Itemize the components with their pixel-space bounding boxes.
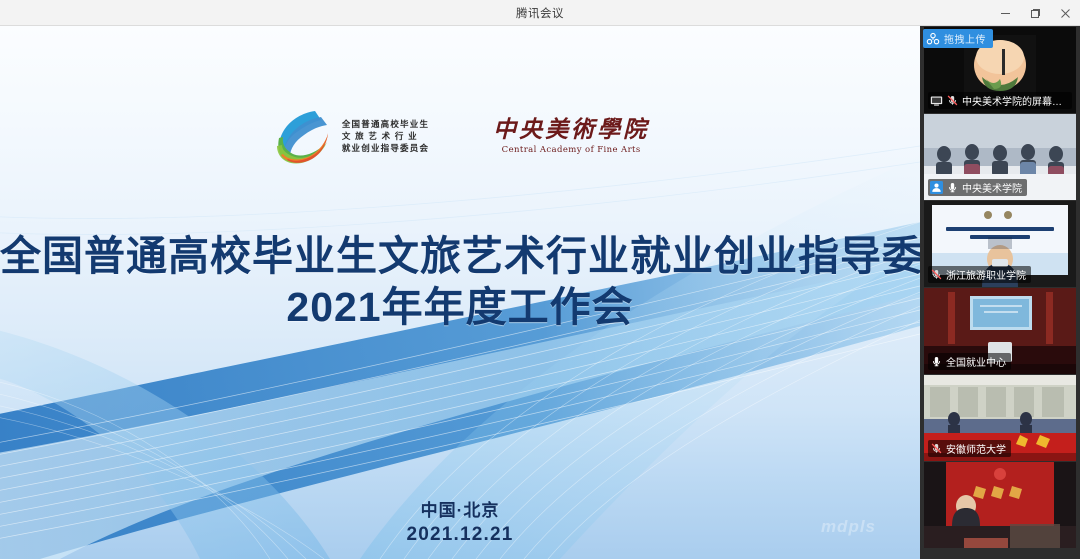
cafa-logo-cn: 中央美術學院 xyxy=(493,117,649,142)
filmstrip-tile[interactable]: 安徽师范大学 xyxy=(924,375,1076,461)
mic-muted-icon xyxy=(930,442,943,455)
person-icon xyxy=(930,181,943,194)
screen-share-icon xyxy=(930,94,943,107)
shared-screen-stage[interactable]: 全国普通高校毕业生 文 旅 艺 术 行 业 就业创业指导委员会 中央美術學院 C… xyxy=(0,26,920,559)
tile-video xyxy=(924,462,1076,548)
maximize-button[interactable] xyxy=(1020,0,1050,26)
window-title: 腾讯会议 xyxy=(516,5,564,21)
drag-upload-label: 拖拽上传 xyxy=(944,31,986,46)
meeting-body: 全国普通高校毕业生 文 旅 艺 术 行 业 就业创业指导委员会 中央美術學院 C… xyxy=(0,26,1080,559)
filmstrip-tile[interactable]: 浙江旅游职业学院 xyxy=(924,201,1076,287)
colorful-swoosh-logo-icon xyxy=(271,108,333,164)
slide-title-line-1: 全国普通高校毕业生文旅艺术行业就业创业指导委员会 xyxy=(0,231,920,281)
slide-date: 2021.12.21 xyxy=(0,524,920,546)
slide-title: 全国普通高校毕业生文旅艺术行业就业创业指导委员会 2021年年度工作会 xyxy=(0,231,920,334)
filmstrip-tile[interactable]: 中央美术学院 xyxy=(924,114,1076,200)
committee-logo-text: 全国普通高校毕业生 文 旅 艺 术 行 业 就业创业指导委员会 xyxy=(342,118,429,155)
slide-footer: 中国·北京 2021.12.21 xyxy=(0,496,920,546)
cafa-logo: 中央美術學院 Central Academy of Fine Arts xyxy=(493,117,649,155)
close-button[interactable] xyxy=(1050,0,1080,26)
tile-name: 浙江旅游职业学院 xyxy=(946,267,1026,282)
committee-logo-line-2: 文 旅 艺 术 行 业 xyxy=(342,130,429,142)
filmstrip-tile[interactable] xyxy=(924,462,1076,548)
presentation-slide: 全国普通高校毕业生 文 旅 艺 术 行 业 就业创业指导委员会 中央美術學院 C… xyxy=(0,26,920,559)
tile-label: 全国就业中心 xyxy=(928,353,1011,370)
tile-label: 浙江旅游职业学院 xyxy=(928,266,1031,283)
tile-name: 中央美术学院 xyxy=(962,180,1022,195)
cafa-logo-en: Central Academy of Fine Arts xyxy=(493,145,649,155)
tile-name: 中央美术学院的屏幕共享 xyxy=(962,93,1067,108)
window-controls xyxy=(990,0,1080,26)
mic-muted-icon xyxy=(930,268,943,281)
tile-label: 中央美术学院的屏幕共享 xyxy=(928,92,1072,109)
slide-logos: 全国普通高校毕业生 文 旅 艺 术 行 业 就业创业指导委员会 中央美術學院 C… xyxy=(0,108,920,164)
minimize-button[interactable] xyxy=(990,0,1020,26)
tile-name: 安徽师范大学 xyxy=(946,441,1006,456)
committee-logo-line-3: 就业创业指导委员会 xyxy=(342,142,429,154)
committee-logo-line-1: 全国普通高校毕业生 xyxy=(342,118,429,130)
drag-upload-badge[interactable]: 拖拽上传 xyxy=(923,29,993,48)
mic-icon xyxy=(946,181,959,194)
participant-filmstrip[interactable]: 拖拽上传 xyxy=(920,26,1080,559)
mic-muted-icon xyxy=(946,94,959,107)
filmstrip-tile[interactable]: 全国就业中心 xyxy=(924,288,1076,374)
mic-icon xyxy=(930,355,943,368)
window-titlebar: 腾讯会议 xyxy=(0,0,1080,26)
tencent-meeting-window: 腾讯会议 xyxy=(0,0,1080,559)
tile-scene-red-stage xyxy=(924,462,1076,548)
slide-location: 中国·北京 xyxy=(0,496,920,521)
tile-label: 中央美术学院 xyxy=(928,179,1027,196)
committee-logo: 全国普通高校毕业生 文 旅 艺 术 行 业 就业创业指导委员会 xyxy=(271,108,429,164)
tile-label: 安徽师范大学 xyxy=(928,440,1011,457)
share-cloud-icon xyxy=(926,32,940,46)
tile-name: 全国就业中心 xyxy=(946,354,1006,369)
slide-title-line-2: 2021年年度工作会 xyxy=(0,281,920,334)
